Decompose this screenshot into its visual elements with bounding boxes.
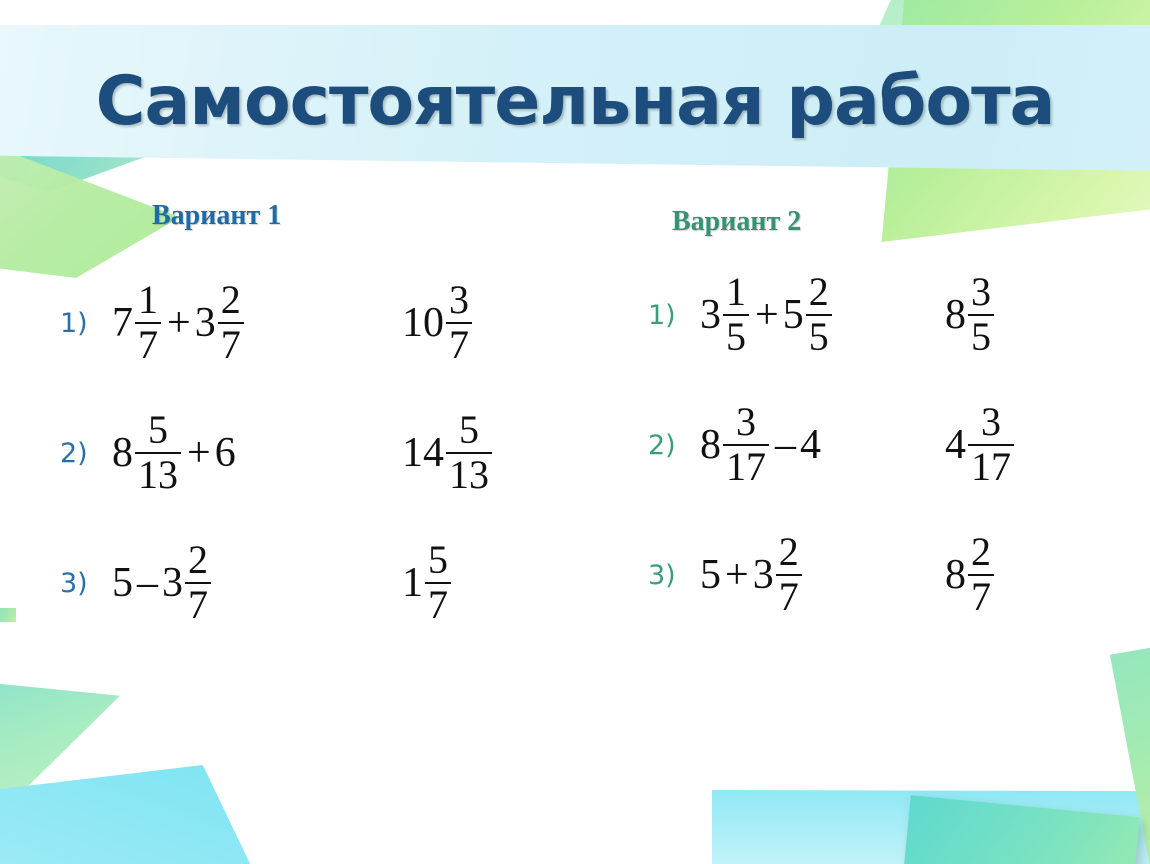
operand-2-whole-number: 3 [195,302,216,344]
answer-numerator: 5 [456,412,482,449]
operand-2-denominator: 7 [218,327,244,364]
answer-whole-number: 14 [402,432,444,474]
answer-fraction: 513 [446,412,492,494]
answer-whole-number: 4 [945,424,966,466]
operand-2-fraction: 27 [776,534,802,616]
answer-whole-number: 10 [402,302,444,344]
bottom-cyan-band-shape [712,790,1150,864]
problem-answer: 14513 [402,412,494,494]
answer-numerator: 5 [425,542,451,579]
operand-2-whole-number: 3 [162,562,183,604]
operand-0-numerator: 1 [723,274,749,311]
problem-expression: 8513+6 [112,412,402,494]
answer-whole-number: 8 [945,294,966,336]
answer-denominator: 13 [446,457,492,494]
variant-2-problem-list: 1)315+5258352)8317–443173)5+327827 [648,250,1118,640]
answer-denominator: 5 [968,319,994,356]
operator-symbol: – [137,562,158,604]
operand-0-fraction: 317 [723,404,769,486]
operand-2-denominator: 7 [185,587,211,624]
operand-0-fraction: 513 [135,412,181,494]
operand-0-whole-number: 8 [700,424,721,466]
variant-2-heading: Вариант 2 [672,206,801,238]
operand-2-numerator: 2 [185,542,211,579]
operand-0-whole-number: 3 [700,294,721,336]
operand-0-denominator: 17 [723,449,769,486]
answer-denominator: 7 [446,327,472,364]
operand-0-denominator: 7 [135,327,161,364]
operator-symbol: + [167,302,191,344]
operator-symbol: + [725,554,749,596]
variant-1-heading: Вариант 1 [152,200,281,232]
answer-numerator: 3 [446,282,472,319]
answer-fraction: 35 [968,274,994,356]
operand-0-numerator: 3 [733,404,759,441]
problem-answer: 827 [945,534,996,616]
problem-row: 2)8513+614513 [60,388,620,518]
operand-2-whole-number: 4 [800,424,821,466]
problem-row: 1)315+525835 [648,250,1118,380]
problem-answer: 4317 [945,404,1016,486]
operand-2-whole-number: 5 [783,294,804,336]
answer-fraction: 27 [968,534,994,616]
answer-numerator: 2 [968,534,994,571]
operand-0-fraction: 15 [723,274,749,356]
problem-expression: 8317–4 [700,404,945,486]
answer-whole-number: 1 [402,562,423,604]
answer-fraction: 317 [968,404,1014,486]
problem-expression: 5–327 [112,542,402,624]
operator-symbol: + [187,432,211,474]
variant-1-problem-list: 1)717+32710372)8513+6145133)5–327157 [60,258,620,648]
top-left-green-triangle-shape [0,118,180,278]
operand-2-denominator: 7 [776,579,802,616]
operand-0-whole-number: 5 [112,562,133,604]
answer-denominator: 7 [968,579,994,616]
answer-denominator: 17 [968,449,1014,486]
problem-marker: 2) [60,438,112,469]
operand-2-whole-number: 3 [753,554,774,596]
bottom-left-cyan-quad-shape [0,765,270,864]
problem-expression: 5+327 [700,534,945,616]
operand-2-fraction: 25 [806,274,832,356]
operator-symbol: – [775,424,796,466]
operand-0-denominator: 5 [723,319,749,356]
operand-2-whole-number: 6 [215,432,236,474]
answer-whole-number: 8 [945,554,966,596]
problem-marker: 1) [648,300,700,331]
operand-0-denominator: 13 [135,457,181,494]
operand-2-numerator: 2 [218,282,244,319]
operand-0-whole-number: 8 [112,432,133,474]
problem-row: 1)717+3271037 [60,258,620,388]
bottom-right-teal-rect-shape [900,795,1139,864]
problem-marker: 1) [60,308,112,339]
operand-0-numerator: 1 [135,282,161,319]
answer-fraction: 37 [446,282,472,364]
operand-2-fraction: 27 [218,282,244,364]
operand-0-numerator: 5 [145,412,171,449]
problem-marker: 3) [648,560,700,591]
bottom-left-green-triangle-shape [0,672,120,842]
problem-row: 3)5+327827 [648,510,1118,640]
operand-0-whole-number: 7 [112,302,133,344]
operand-2-numerator: 2 [806,274,832,311]
answer-numerator: 3 [968,274,994,311]
operand-2-numerator: 2 [776,534,802,571]
problem-row: 3)5–327157 [60,518,620,648]
bottom-left-green-speck-shape [0,608,16,622]
operator-symbol: + [755,294,779,336]
problem-answer: 1037 [402,282,474,364]
answer-numerator: 3 [978,404,1004,441]
answer-denominator: 7 [425,587,451,624]
operand-0-fraction: 17 [135,282,161,364]
operand-2-fraction: 27 [185,542,211,624]
operand-2-denominator: 5 [806,319,832,356]
problem-marker: 2) [648,430,700,461]
problem-marker: 3) [60,568,112,599]
answer-fraction: 57 [425,542,451,624]
bottom-right-green-quad-shape [1080,620,1150,864]
problem-answer: 835 [945,274,996,356]
problem-expression: 717+327 [112,282,402,364]
slide-canvas: Самостоятельная работа Вариант 1 Вариант… [0,0,1150,864]
problem-expression: 315+525 [700,274,945,356]
problem-row: 2)8317–44317 [648,380,1118,510]
page-title: Самостоятельная работа [0,62,1150,141]
operand-0-whole-number: 5 [700,554,721,596]
problem-answer: 157 [402,542,453,624]
